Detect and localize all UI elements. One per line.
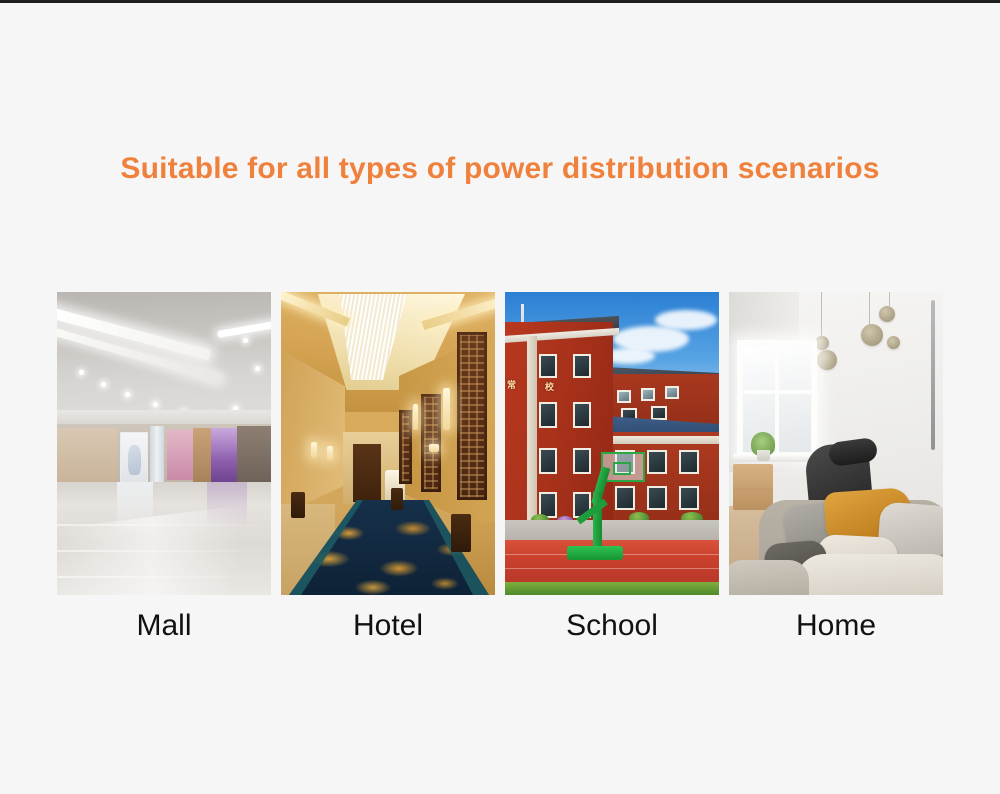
mall-shop-left — [57, 428, 117, 484]
top-divider-rule — [0, 0, 1000, 3]
school-cloud — [655, 310, 717, 330]
home-decor-string — [869, 292, 870, 328]
scenario-card-list: Mall — [57, 292, 943, 650]
home-photo — [729, 292, 943, 595]
school-window — [679, 486, 699, 510]
school-window — [679, 450, 699, 474]
scenario-showcase-page: Suitable for all types of power distribu… — [0, 0, 1000, 794]
school-signage-character: 校 — [545, 380, 554, 393]
hotel-far-door — [353, 444, 381, 502]
school-window — [539, 354, 557, 378]
home-window-mullion — [775, 346, 779, 452]
mall-shop-display-purple — [211, 428, 237, 482]
school-window — [573, 354, 591, 378]
scenario-label-mall: Mall — [136, 611, 191, 641]
school-window — [617, 390, 631, 403]
hotel-lattice-panel — [457, 332, 487, 500]
school-backboard-square — [613, 462, 631, 475]
home-decor-string — [889, 292, 890, 306]
scenario-card-home[interactable]: Home — [729, 292, 943, 650]
school-window — [539, 448, 557, 474]
hotel-wall-sconce — [327, 446, 333, 460]
mall-shop-display-pink — [167, 430, 193, 480]
mall-downlight — [153, 402, 158, 407]
hotel-waste-bin — [451, 514, 471, 552]
school-window — [647, 486, 667, 510]
home-wall-decor-disc — [887, 336, 900, 349]
school-facade-pillar — [527, 336, 537, 526]
page-title: Suitable for all types of power distribu… — [0, 152, 1000, 186]
home-window-mullion — [743, 390, 811, 394]
mall-led-display — [120, 432, 148, 484]
home-sofa-seat — [795, 554, 943, 595]
hotel-lattice-panel — [399, 410, 412, 484]
home-curtain-rail — [931, 300, 935, 450]
mall-shop-wood-panel — [193, 428, 213, 482]
school-hoop-base — [567, 546, 623, 560]
hotel-wall-sconce — [429, 444, 439, 452]
school-window — [665, 386, 679, 399]
school-signage-character: 常 — [507, 378, 516, 391]
scenario-card-school[interactable]: 常 校 — [505, 292, 719, 650]
school-window — [647, 450, 667, 474]
school-window — [573, 448, 591, 474]
school-grass-strip — [505, 582, 719, 595]
mall-downlight — [243, 338, 248, 343]
home-sofa-arm — [729, 560, 809, 595]
hotel-waste-bin — [391, 488, 403, 510]
home-wall-decor-disc — [879, 306, 895, 322]
mall-glass-column — [150, 426, 164, 486]
hotel-waste-bin — [291, 492, 305, 518]
school-window — [573, 402, 591, 428]
mall-photo — [57, 292, 271, 595]
mall-downlight — [125, 392, 130, 397]
scenario-label-home: Home — [796, 611, 876, 641]
home-wall-decor-disc — [861, 324, 883, 346]
scenario-card-mall[interactable]: Mall — [57, 292, 271, 650]
school-window — [615, 486, 635, 510]
home-wall-decor-disc — [817, 350, 837, 370]
mall-downlight — [79, 370, 84, 375]
mall-downlight — [255, 366, 260, 371]
school-track-lane-line — [505, 568, 719, 569]
school-walkway — [505, 520, 719, 542]
school-facade-band — [603, 436, 719, 444]
school-window — [651, 406, 667, 420]
home-side-cart — [733, 464, 773, 510]
hotel-lattice-panel — [421, 394, 441, 492]
hotel-wall-sconce — [311, 442, 317, 458]
hotel-wall-sconce — [413, 404, 418, 430]
mall-shop-right — [237, 426, 271, 484]
scenario-label-school: School — [566, 611, 658, 641]
school-window — [641, 388, 655, 401]
scenario-card-hotel[interactable]: Hotel — [281, 292, 495, 650]
home-wall-decor-disc — [815, 336, 829, 350]
school-window — [539, 402, 557, 428]
school-photo: 常 校 — [505, 292, 719, 595]
hotel-photo — [281, 292, 495, 595]
home-cart-shelf — [733, 488, 773, 491]
mall-downlight — [101, 382, 106, 387]
hotel-wall-sconce — [443, 388, 450, 430]
scenario-label-hotel: Hotel — [353, 611, 423, 641]
home-plant-pot — [757, 450, 770, 461]
